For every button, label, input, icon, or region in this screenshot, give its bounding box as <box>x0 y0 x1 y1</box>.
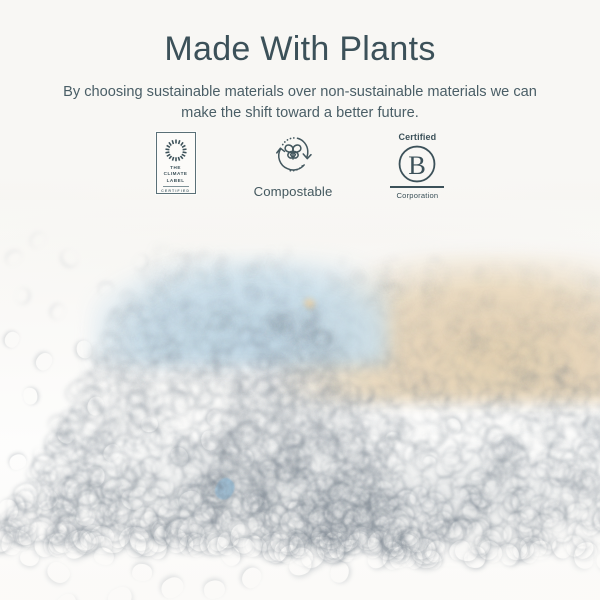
svg-text:B: B <box>409 151 427 180</box>
bcorp-corporation-text: Corporation <box>396 191 438 200</box>
certification-badge-row: THE CLIMATE LABEL CERTIFIED <box>0 132 600 200</box>
climate-label-card: THE CLIMATE LABEL CERTIFIED <box>156 132 196 194</box>
poster-canvas: Made With Plants By choosing sustainable… <box>0 0 600 600</box>
climate-divider <box>163 186 189 187</box>
climate-line-3: LABEL <box>164 178 188 184</box>
climate-label-text: THE CLIMATE LABEL <box>164 165 188 183</box>
badge-climate-label[interactable]: THE CLIMATE LABEL CERTIFIED <box>156 132 196 194</box>
climate-certified-text: CERTIFIED <box>161 189 190 193</box>
page-subtitle: By choosing sustainable materials over n… <box>60 82 540 123</box>
badge-b-corporation[interactable]: Certified B Corporation <box>390 132 444 200</box>
b-corp-icon: B <box>397 144 437 184</box>
climate-line-2: CLIMATE <box>164 171 188 177</box>
page-title: Made With Plants <box>0 30 600 69</box>
badge-compostable[interactable]: Compostable <box>254 132 333 199</box>
bcorp-certified-text: Certified <box>398 132 436 142</box>
pellets-photograph <box>0 200 600 600</box>
compostable-label: Compostable <box>254 184 333 199</box>
sun-burst-icon <box>163 138 189 162</box>
bcorp-divider <box>390 186 444 188</box>
scattered-pellet-group <box>0 200 600 600</box>
compostable-leaf-loop-icon <box>269 132 317 177</box>
